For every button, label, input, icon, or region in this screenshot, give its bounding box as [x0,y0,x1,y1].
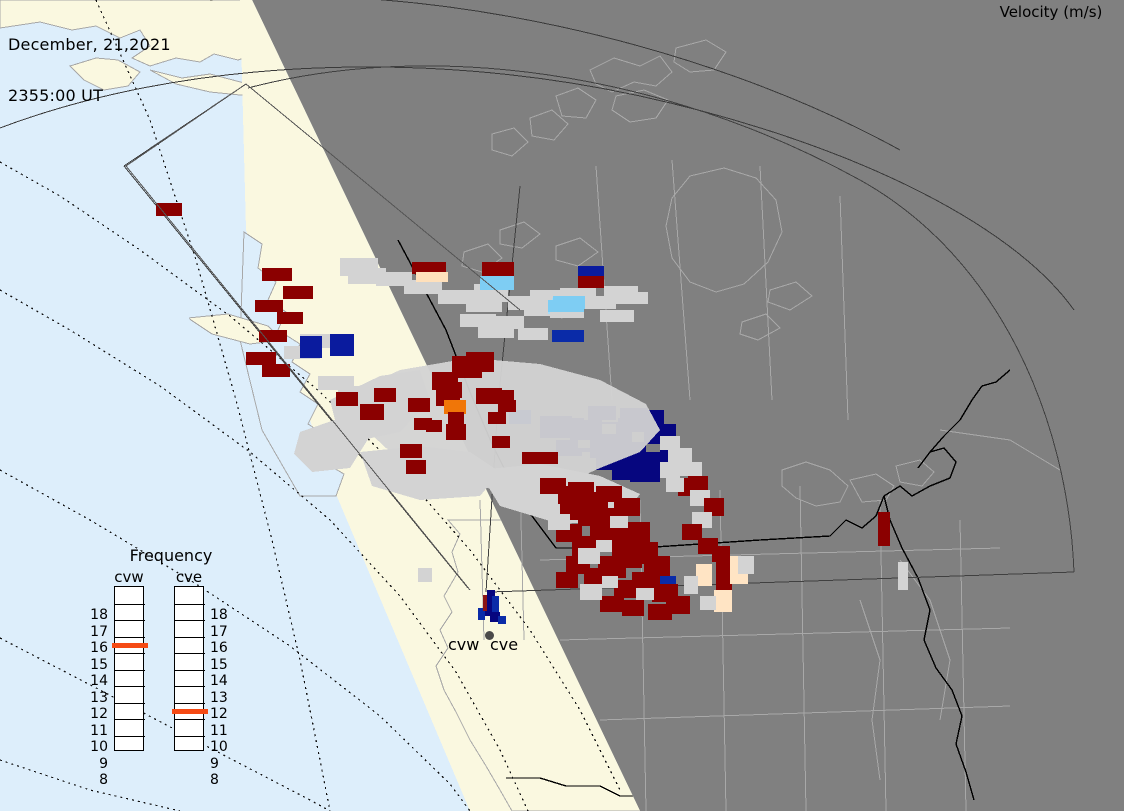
frequency-segment-line [115,719,145,720]
site-label-cve: cve [490,635,518,654]
frequency-column-cve: cve 18171615141312111098 [174,568,204,751]
frequency-segment-line [175,686,205,687]
frequency-legend: Frequency cvw 18171615141312111098 cve 1… [86,546,256,786]
frequency-segment-line [115,620,145,621]
superdarn-fanplot: December, 21,2021 2355:00 UT cvw cve Vel… [0,0,1124,811]
frequency-segment-line [175,736,205,737]
frequency-scale-cvw [114,586,144,751]
frequency-marker-cvw [112,643,148,648]
frequency-tick-cvw-8: 8 [86,772,108,788]
frequency-segment-line [115,653,145,654]
frequency-tick-cve-12: 12 [210,706,232,722]
frequency-tick-cvw-11: 11 [86,723,108,739]
frequency-segment-line [175,719,205,720]
frequency-column-name-cve: cve [174,568,204,586]
frequency-tick-cve-10: 10 [210,739,232,755]
frequency-tick-cve-15: 15 [210,657,232,673]
frequency-segment-line [115,604,145,605]
frequency-segment-line [175,620,205,621]
frequency-tick-cvw-18: 18 [86,607,108,623]
frequency-tick-cvw-13: 13 [86,690,108,706]
date-label: December, 21,2021 [8,36,171,53]
frequency-tick-cve-17: 17 [210,624,232,640]
frequency-marker-cve [172,709,208,714]
frequency-tick-cve-9: 9 [210,756,232,772]
site-label-cvw: cvw [448,635,479,654]
frequency-tick-cvw-14: 14 [86,673,108,689]
time-label: 2355:00 UT [8,87,171,104]
velocity-legend-title: Velocity (m/s) [980,3,1122,21]
frequency-tick-cve-18: 18 [210,607,232,623]
frequency-tick-cvw-12: 12 [86,706,108,722]
frequency-segment-line [175,703,205,704]
frequency-scale-cve [174,586,204,751]
frequency-tick-cvw-9: 9 [86,756,108,772]
frequency-segment-line [175,637,205,638]
frequency-legend-title: Frequency [86,546,256,565]
frequency-segment-line [175,670,205,671]
frequency-segment-line [115,637,145,638]
timestamp-overlay: December, 21,2021 2355:00 UT [8,2,171,138]
frequency-tick-cve-11: 11 [210,723,232,739]
frequency-column-name-cvw: cvw [114,568,144,586]
frequency-tick-cve-13: 13 [210,690,232,706]
frequency-segment-line [115,736,145,737]
frequency-segment-line [175,653,205,654]
frequency-tick-cve-14: 14 [210,673,232,689]
frequency-segment-line [175,604,205,605]
frequency-tick-cve-16: 16 [210,640,232,656]
frequency-tick-cvw-10: 10 [86,739,108,755]
frequency-tick-cve-8: 8 [210,772,232,788]
frequency-tick-cvw-17: 17 [86,624,108,640]
frequency-tick-cvw-15: 15 [86,657,108,673]
frequency-segment-line [115,670,145,671]
frequency-segment-line [115,686,145,687]
frequency-tick-cvw-16: 16 [86,640,108,656]
frequency-column-cvw: cvw 18171615141312111098 [114,568,144,751]
velocity-colorbar-legend: Velocity (m/s) 5004003002001000-100-200-… [975,0,1124,340]
frequency-segment-line [115,703,145,704]
